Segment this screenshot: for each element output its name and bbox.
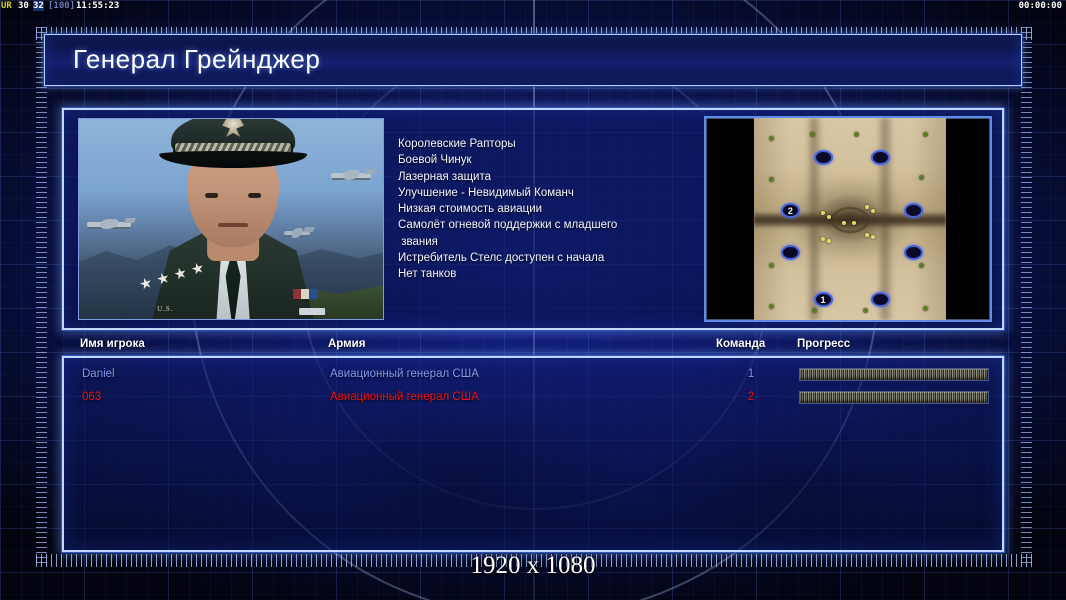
minimap-tree-icon bbox=[923, 132, 928, 137]
mouth bbox=[218, 223, 248, 227]
minimap-start-position[interactable] bbox=[781, 245, 800, 260]
debug-percent: [100] bbox=[48, 1, 75, 11]
minimap-supply-icon bbox=[821, 237, 825, 241]
minimap-tree-icon bbox=[769, 263, 774, 268]
resolution-caption: 1920 x 1080 bbox=[0, 552, 1066, 580]
ribbon-bar-icon bbox=[293, 289, 317, 299]
minimap-tree-icon bbox=[769, 304, 774, 309]
bonus-item: Улучшение - Невидимый Команч bbox=[398, 185, 698, 201]
minimap-start-position[interactable] bbox=[904, 203, 923, 218]
minimap-tree-icon bbox=[863, 308, 868, 313]
minimap-tree-icon bbox=[769, 177, 774, 182]
debug-value-b: 32 bbox=[33, 1, 44, 11]
progress-bar-fill bbox=[800, 369, 988, 380]
eye-right bbox=[248, 193, 261, 198]
bonus-item: Королевские Рапторы bbox=[398, 136, 698, 152]
player-name: Daniel bbox=[82, 368, 115, 380]
minimap-supply-icon bbox=[827, 215, 831, 219]
debug-overlay-bar: UR 30 32 [100] 11:55:23 00:00:00 bbox=[0, 0, 1066, 14]
page-title: Генерал Грейнджер bbox=[73, 44, 320, 75]
player-name: 063 bbox=[82, 391, 101, 403]
minimap-start-position[interactable]: 1 bbox=[814, 292, 833, 307]
cap-brim bbox=[159, 151, 307, 168]
minimap-supply-icon bbox=[827, 239, 831, 243]
column-header-team: Команда bbox=[716, 338, 765, 350]
player-team: 2 bbox=[744, 391, 758, 403]
match-clock: 00:00:00 bbox=[1019, 1, 1062, 11]
minimap-supply-icon bbox=[865, 205, 869, 209]
roster-row[interactable]: 063Авиационный генерал США2 bbox=[64, 387, 1002, 409]
progress-bar bbox=[799, 368, 989, 381]
bonus-item: Низкая стоимость авиации bbox=[398, 201, 698, 217]
bonus-item: Лазерная защита bbox=[398, 169, 698, 185]
minimap-supply-icon bbox=[852, 221, 856, 225]
player-roster-panel: DanielАвиационный генерал США1063Авиацио… bbox=[62, 356, 1004, 552]
title-panel: Генерал Грейнджер bbox=[44, 34, 1022, 86]
minimap-supply-icon bbox=[871, 209, 875, 213]
minimap-tree-icon bbox=[810, 132, 815, 137]
roster-row[interactable]: DanielАвиационный генерал США1 bbox=[64, 364, 1002, 386]
minimap-supply-icon bbox=[871, 235, 875, 239]
player-army: Авиационный генерал США bbox=[330, 368, 479, 380]
debug-ur-label: UR bbox=[1, 1, 12, 11]
minimap-start-position[interactable]: 2 bbox=[781, 203, 800, 218]
general-figure: U.S. bbox=[127, 129, 339, 319]
name-plate-icon bbox=[299, 308, 325, 315]
column-header-army: Армия bbox=[328, 338, 365, 350]
minimap-tree-icon bbox=[919, 263, 924, 268]
column-header-progress: Прогресс bbox=[797, 338, 850, 350]
bonus-item: Самолёт огневой поддержки с младшего зва… bbox=[398, 217, 698, 250]
minimap-center-feature bbox=[831, 207, 869, 233]
game-screen: UR 30 32 [100] 11:55:23 00:00:00 Генерал… bbox=[0, 0, 1066, 600]
minimap-start-position[interactable] bbox=[871, 292, 890, 307]
star-icon bbox=[173, 266, 188, 281]
general-info-panel: U.S. Королевские РапторыБоевой ЧинукЛазе… bbox=[62, 108, 1004, 330]
minimap-tree-icon bbox=[923, 306, 928, 311]
column-header-player-name: Имя игрока bbox=[80, 338, 145, 350]
debug-timestamp: 11:55:23 bbox=[76, 1, 119, 11]
star-icon bbox=[190, 261, 205, 276]
minimap-preview: 21 bbox=[704, 116, 992, 322]
star-icon bbox=[156, 271, 171, 286]
bonus-item: Боевой Чинук bbox=[398, 152, 698, 168]
aircraft-icon bbox=[87, 222, 131, 227]
minimap-tree-icon bbox=[769, 136, 774, 141]
debug-value-a: 30 bbox=[18, 1, 29, 11]
ruler-right bbox=[1021, 27, 1032, 565]
general-bonus-list: Королевские РапторыБоевой ЧинукЛазерная … bbox=[398, 136, 698, 283]
progress-bar-fill bbox=[800, 392, 988, 403]
general-portrait: U.S. bbox=[78, 118, 384, 320]
star-icon bbox=[138, 276, 153, 291]
progress-bar bbox=[799, 391, 989, 404]
roster-column-headers: Имя игрока Армия Команда Прогресс bbox=[62, 338, 1004, 356]
minimap-terrain: 21 bbox=[754, 118, 946, 320]
minimap-tree-icon bbox=[919, 175, 924, 180]
service-cap bbox=[159, 118, 307, 169]
player-army: Авиационный генерал США bbox=[330, 391, 479, 403]
bonus-item: Нет танков bbox=[398, 266, 698, 282]
eye-left bbox=[205, 193, 218, 198]
minimap-tree-icon bbox=[854, 132, 859, 137]
player-team: 1 bbox=[744, 368, 758, 380]
minimap-terrain-band bbox=[806, 118, 823, 320]
minimap-start-position[interactable] bbox=[904, 245, 923, 260]
minimap-start-position[interactable] bbox=[814, 150, 833, 165]
minimap-supply-icon bbox=[865, 233, 869, 237]
bonus-item: Истребитель Стелс доступен с начала bbox=[398, 250, 698, 266]
us-insignia-icon: U.S. bbox=[157, 305, 173, 313]
ruler-left bbox=[36, 27, 47, 565]
minimap-terrain-band bbox=[877, 118, 894, 320]
minimap-tree-icon bbox=[812, 308, 817, 313]
